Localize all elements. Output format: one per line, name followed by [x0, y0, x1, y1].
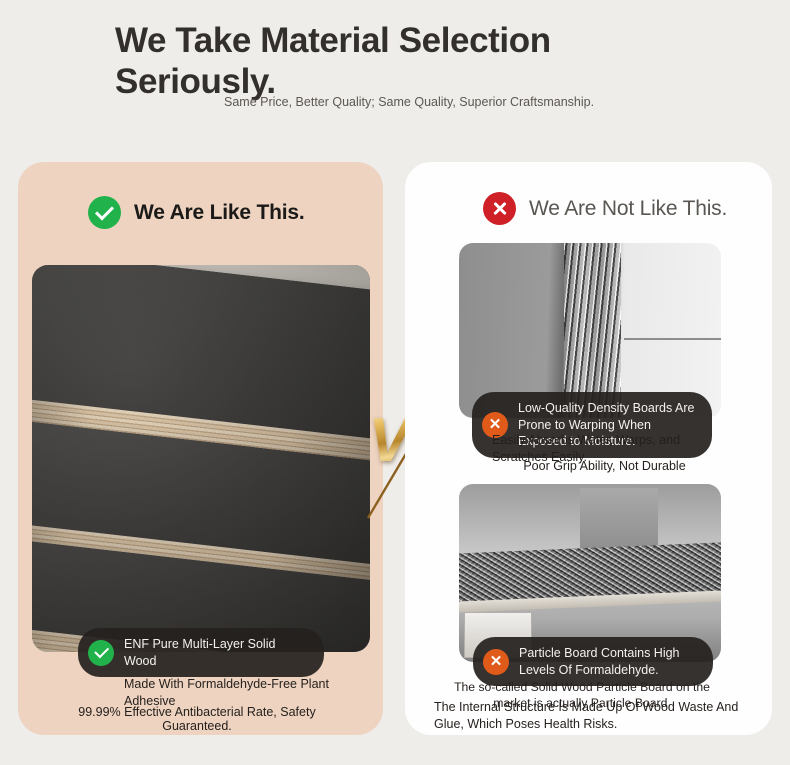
green-check-icon — [88, 640, 114, 666]
left-caption-2: 99.99% Effective Antibacterial Rate, Saf… — [42, 705, 352, 733]
particle-caption-pill: ✕ Particle Board Contains High Levels Of… — [473, 637, 713, 686]
page-header: We Take Material Selection Seriously. Sa… — [0, 0, 790, 150]
page-subtitle: Same Price, Better Quality; Same Quality… — [224, 94, 644, 112]
left-panel-heading-label: We Are Like This. — [134, 201, 305, 225]
particle-board-photo — [459, 484, 721, 662]
orange-x-icon: ✕ — [483, 649, 509, 675]
right-caption-2b: The Internal Structure Is Made Up Of Woo… — [434, 699, 744, 732]
plywood-photo — [32, 265, 370, 652]
enf-caption-pill: ENF Pure Multi-Layer Solid Wood — [78, 628, 324, 677]
red-x-circle-icon — [483, 192, 516, 225]
green-check-circle-icon — [88, 196, 121, 229]
right-panel-heading-label: We Are Not Like This. — [529, 197, 727, 221]
particle-caption-text: Particle Board Contains High Levels Of F… — [519, 645, 697, 678]
left-panel-heading: We Are Like This. — [88, 196, 305, 229]
right-caption-1b: Poor Grip Ability, Not Durable — [492, 459, 717, 473]
right-panel-heading: We Are Not Like This. — [483, 192, 727, 225]
enf-caption-text: ENF Pure Multi-Layer Solid Wood — [124, 636, 308, 669]
page-title: We Take Material Selection Seriously. — [115, 21, 675, 103]
